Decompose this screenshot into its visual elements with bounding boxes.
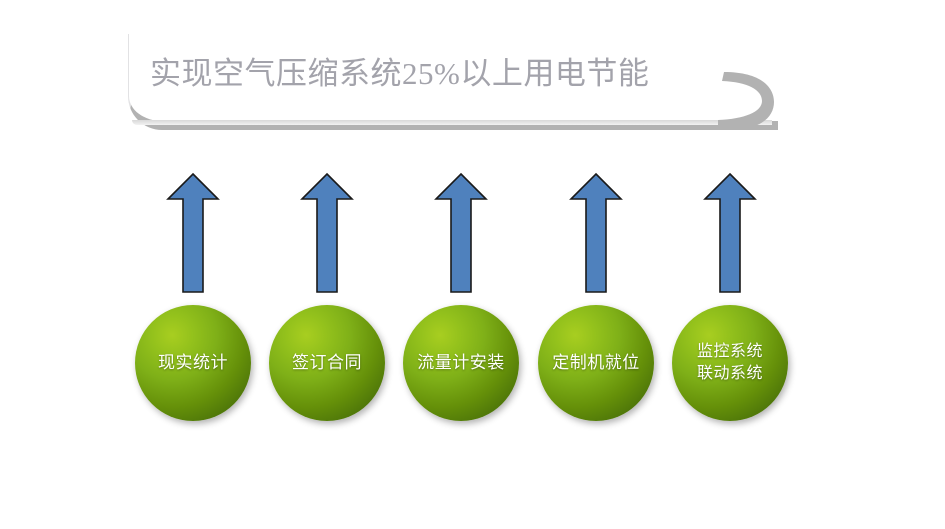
process-node-label-1: 现实统计 (154, 352, 232, 374)
up-arrow-icon-5 (703, 172, 757, 294)
up-arrow-icon-2 (300, 172, 354, 294)
process-node-label-4: 定制机就位 (548, 352, 644, 374)
title-banner: 实现空气压缩系统25%以上用电节能 (0, 0, 945, 150)
process-node-3[interactable]: 流量计安装 (403, 305, 519, 421)
page-title: 实现空气压缩系统25%以上用电节能 (150, 50, 750, 98)
process-node-4[interactable]: 定制机就位 (538, 305, 654, 421)
up-arrow-icon-4 (569, 172, 623, 294)
up-arrow-icon-1 (166, 172, 220, 294)
process-node-1[interactable]: 现实统计 (135, 305, 251, 421)
process-node-2[interactable]: 签订合同 (269, 305, 385, 421)
process-node-label-5: 监控系统 联动系统 (693, 341, 767, 385)
process-node-label-3: 流量计安装 (413, 352, 509, 374)
process-node-label-2: 签订合同 (288, 352, 366, 374)
up-arrow-icon-3 (434, 172, 488, 294)
banner-swoosh-highlight (132, 120, 772, 125)
slide-canvas: 实现空气压缩系统25%以上用电节能 现实统计 签订合同 流量计安装 (0, 0, 945, 529)
process-node-5[interactable]: 监控系统 联动系统 (672, 305, 788, 421)
